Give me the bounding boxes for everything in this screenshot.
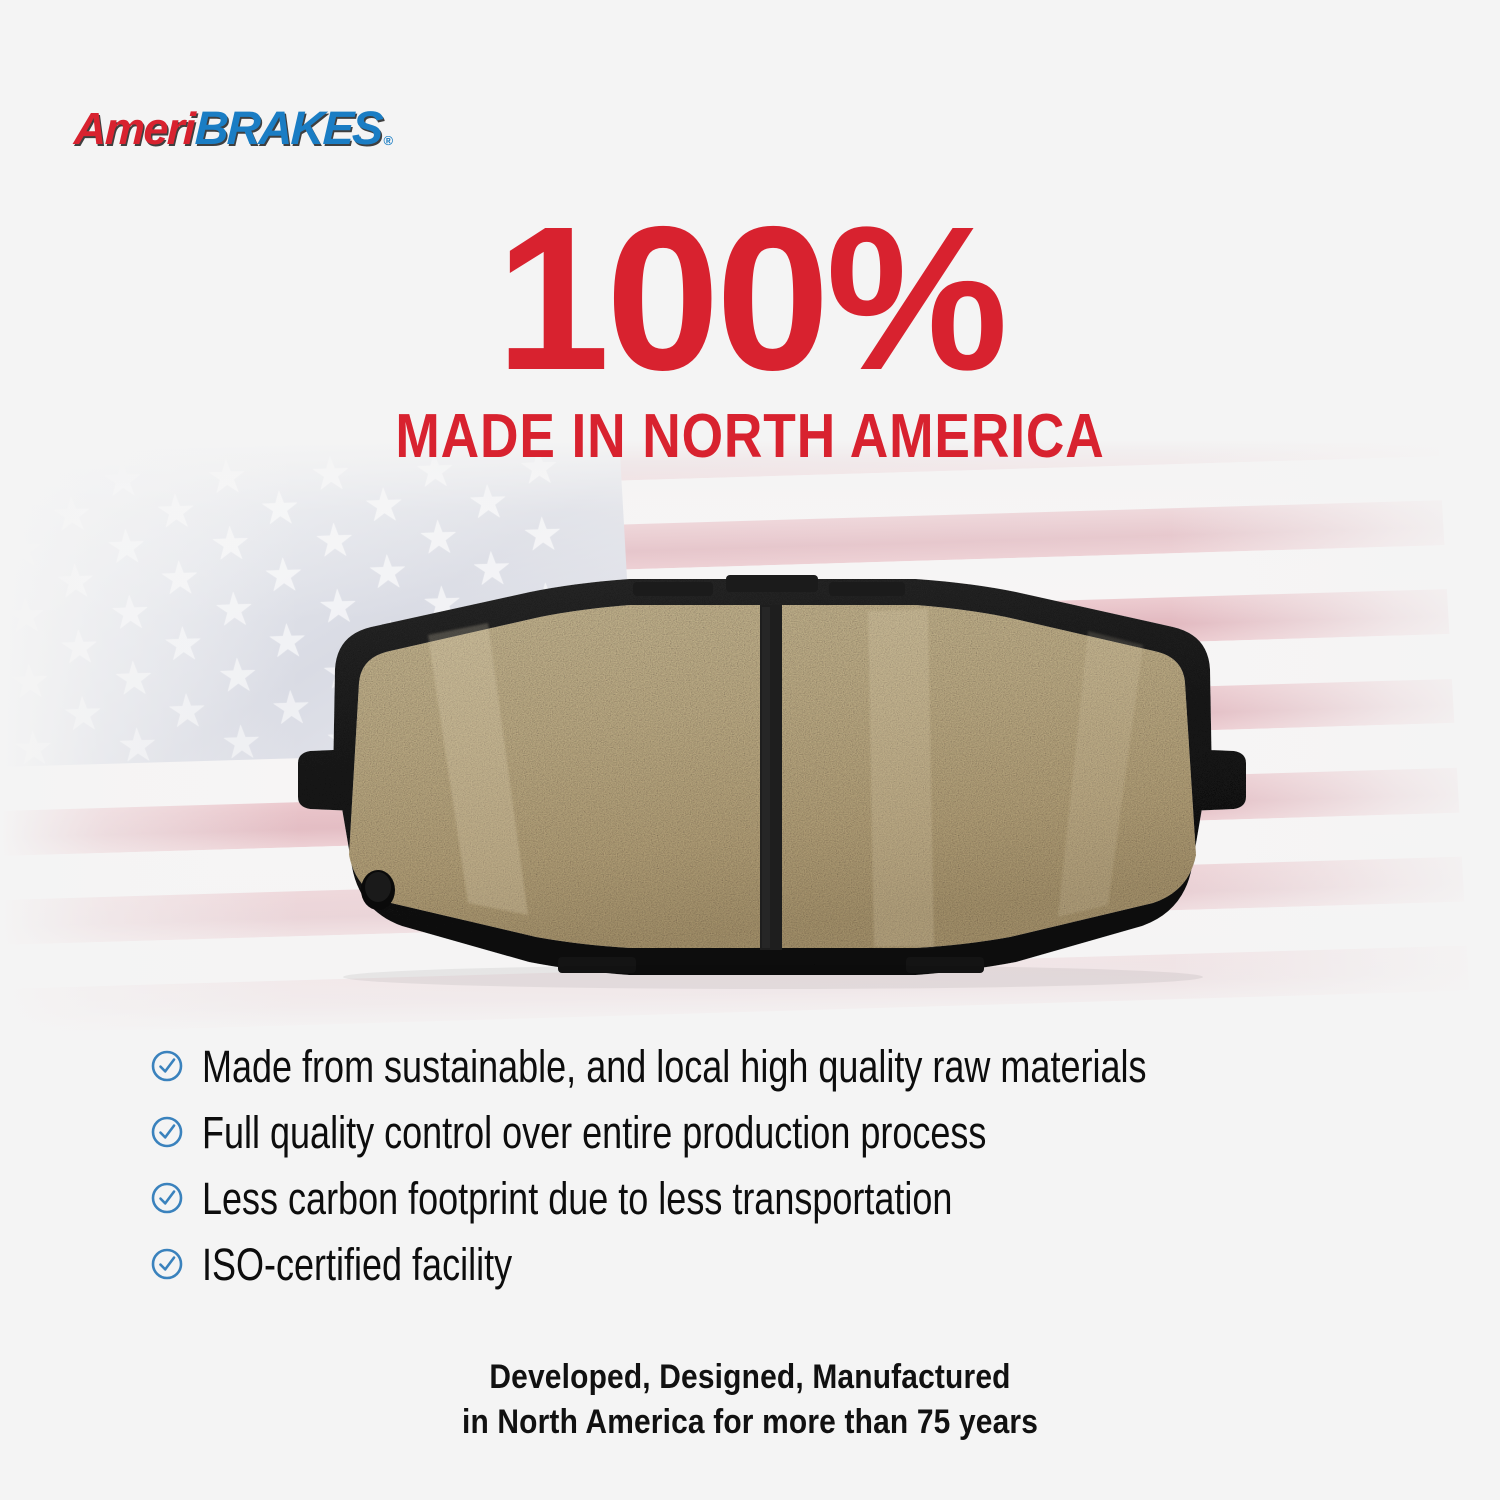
check-circle-icon [150, 1247, 184, 1281]
registered-trademark-icon: ® [384, 134, 392, 147]
brake-pad-svg [228, 565, 1313, 990]
list-item: Made from sustainable, and local high qu… [150, 1040, 1370, 1092]
list-item: ISO-certified facility [150, 1238, 1370, 1290]
brand-logo[interactable]: AmeriBRAKES® [74, 104, 392, 151]
list-item: Less carbon footprint due to less transp… [150, 1172, 1370, 1224]
brake-pad-center-slot [760, 605, 782, 950]
poster-canvas: AmeriBRAKES® ★★★★★★★★★★★★★★★★★★★★★★★★★★★… [0, 0, 1500, 1500]
logo-text-ameri: Ameri [73, 106, 195, 151]
list-item-label: Less carbon footprint due to less transp… [202, 1176, 1136, 1221]
footer-line-2: in North America for more than 75 years [90, 1400, 1410, 1445]
list-item-label: ISO-certified facility [202, 1242, 1136, 1287]
list-item: Full quality control over entire product… [150, 1106, 1370, 1158]
list-item-label: Made from sustainable, and local high qu… [202, 1044, 1146, 1089]
feature-list: Made from sustainable, and local high qu… [150, 1040, 1370, 1304]
check-circle-icon [150, 1049, 184, 1083]
check-circle-icon [150, 1115, 184, 1149]
page-title-percent: 100% [0, 196, 1500, 401]
footer-text: Developed, Designed, Manufactured in Nor… [0, 1355, 1500, 1445]
brake-pad-image [228, 565, 1313, 990]
brake-pad-mounting-hole [361, 870, 395, 910]
footer-line-1: Developed, Designed, Manufactured [90, 1355, 1410, 1400]
logo-text-brakes: BRAKES [194, 104, 382, 151]
check-circle-icon [150, 1181, 184, 1215]
page-subtitle: MADE IN NORTH AMERICA [105, 406, 1395, 468]
list-item-label: Full quality control over entire product… [202, 1110, 1136, 1155]
